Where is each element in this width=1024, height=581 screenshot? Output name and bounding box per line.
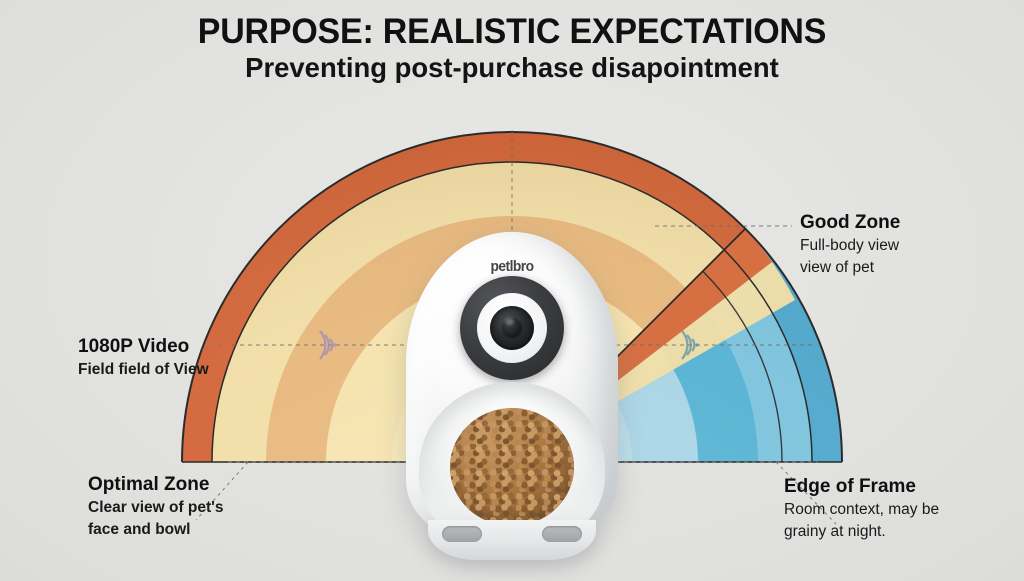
callout-fov-title: 1080P Video xyxy=(78,336,209,358)
infographic-canvas: PURPOSE: REALISTIC EXPECTATIONS Preventi… xyxy=(0,0,1024,581)
device-base xyxy=(428,520,596,560)
callout-optimal-zone-desc-2: face and bowl xyxy=(88,520,223,540)
kibble-texture xyxy=(450,408,574,526)
base-vent-right xyxy=(542,526,582,542)
page-title: PURPOSE: REALISTIC EXPECTATIONS xyxy=(15,14,1008,50)
header: PURPOSE: REALISTIC EXPECTATIONS Preventi… xyxy=(0,14,1024,83)
callout-fov-desc-1: Field field of View xyxy=(78,360,209,380)
page-subtitle: Preventing post-purchase disapointment xyxy=(10,53,1014,82)
callout-optimal-zone-desc-1: Clear view of pet's xyxy=(88,498,223,518)
callout-good-zone: Good Zone Full-body view view of pet xyxy=(800,212,900,277)
callout-edge-of-frame-desc-2: grainy at night. xyxy=(784,522,939,542)
callout-optimal-zone-title: Optimal Zone xyxy=(88,474,223,496)
callout-edge-of-frame-desc-1: Room context, may be xyxy=(784,500,939,520)
camera-ring xyxy=(477,293,547,363)
base-vent-left xyxy=(442,526,482,542)
callout-optimal-zone: Optimal Zone Clear view of pet's face an… xyxy=(88,474,223,539)
callout-good-zone-title: Good Zone xyxy=(800,212,900,234)
callout-edge-of-frame-title: Edge of Frame xyxy=(784,476,939,498)
kibble-food xyxy=(450,408,574,526)
callout-good-zone-desc-2: view of pet xyxy=(800,258,900,278)
device-brand-label: petlbro xyxy=(491,258,534,275)
callout-good-zone-desc-1: Full-body view xyxy=(800,236,900,256)
pet-feeder-device: petlbro xyxy=(406,232,618,562)
callout-edge-of-frame: Edge of Frame Room context, may be grain… xyxy=(784,476,939,541)
callout-fov: 1080P Video Field field of View xyxy=(78,336,209,380)
camera-lens-icon xyxy=(490,306,534,350)
camera-bezel xyxy=(460,276,564,380)
